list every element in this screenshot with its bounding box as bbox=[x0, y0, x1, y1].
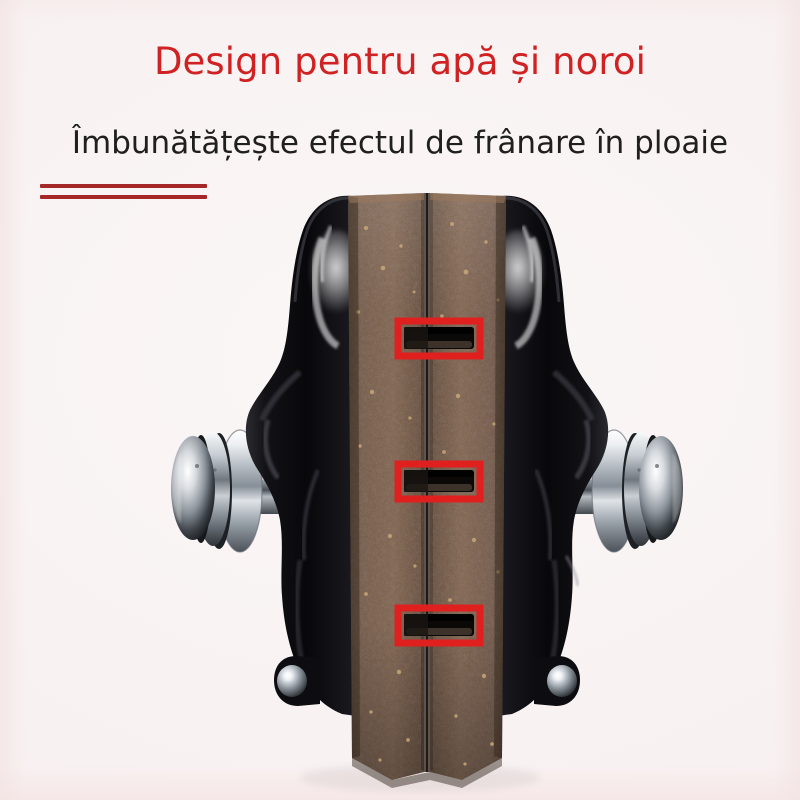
page-title: Design pentru apă și noroi bbox=[0, 40, 800, 83]
page-subtitle: Îmbunătățește efectul de frânare în ploa… bbox=[0, 125, 800, 161]
rule-line-top bbox=[40, 184, 207, 188]
promo-banner: Design pentru apă și noroi Îmbunătățește… bbox=[0, 0, 800, 800]
red-double-rule bbox=[40, 184, 207, 199]
rule-line-bottom bbox=[40, 195, 207, 199]
left-brake-shoe-body bbox=[246, 196, 362, 716]
right-brake-shoe-body bbox=[492, 196, 608, 716]
product-photo bbox=[0, 0, 800, 800]
